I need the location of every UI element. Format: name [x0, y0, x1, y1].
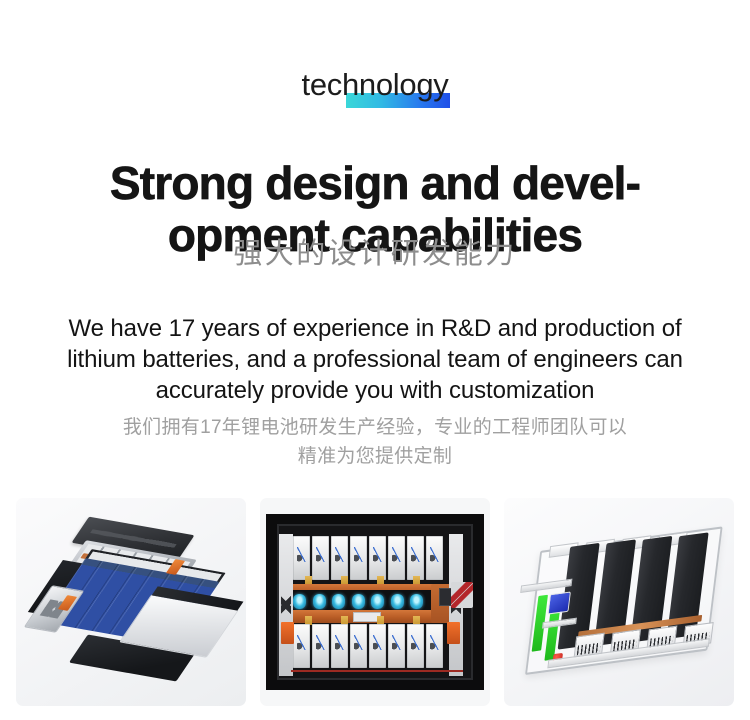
module-cell — [350, 624, 367, 668]
body-en-line-3: accurately provide you with customizatio… — [28, 375, 722, 406]
status-led — [352, 594, 365, 609]
module-terminal-left — [281, 622, 294, 644]
product-image-gallery — [16, 498, 734, 706]
body-en-line-1: We have 17 years of experience in R&D an… — [28, 313, 722, 344]
module-cell — [331, 624, 348, 668]
module-cell — [331, 536, 348, 580]
module-cell — [350, 536, 367, 580]
indicator-led-row — [293, 594, 423, 609]
status-led — [391, 594, 404, 609]
module-cell — [407, 624, 424, 668]
page-title-line-1: Strong design and devel- — [0, 157, 750, 209]
eyebrow-text: technology — [302, 67, 449, 102]
module-cell — [293, 536, 310, 580]
module-cell — [369, 536, 386, 580]
module-cell — [369, 624, 386, 668]
module-cell — [293, 624, 310, 668]
module-cell — [312, 624, 329, 668]
status-led — [293, 594, 306, 609]
module-board — [277, 524, 473, 680]
body-cn-line-2: 精准为您提供定制 — [40, 442, 710, 471]
body-en-line-2: lithium batteries, and a professional te… — [28, 344, 722, 375]
module-cell — [388, 624, 405, 668]
gallery-image-module-top-view[interactable] — [260, 498, 490, 706]
module-bracket-left — [279, 534, 293, 676]
module-cell — [407, 536, 424, 580]
module-photo-frame — [266, 514, 484, 690]
exploded-pack-illustration — [20, 504, 246, 706]
module-red-trim-line — [291, 670, 463, 672]
cad-render-illustration — [504, 498, 734, 706]
module-wire-harness — [451, 582, 473, 608]
gallery-image-rack-cabinet-render[interactable] — [504, 498, 734, 706]
module-cell — [312, 536, 329, 580]
marketing-banner-page: technology Strong design and devel- opme… — [0, 0, 750, 720]
status-led — [410, 594, 423, 609]
eyebrow-label: technology — [300, 68, 451, 102]
status-led — [332, 594, 345, 609]
eyebrow-container: technology — [0, 68, 750, 112]
status-led — [371, 594, 384, 609]
gallery-image-exploded-battery-pack[interactable] — [16, 498, 246, 706]
module-cell — [426, 624, 443, 668]
status-led — [313, 594, 326, 609]
body-cn-line-1: 我们拥有17年锂电池研发生产经验，专业的工程师团队可以 — [40, 413, 710, 442]
cell-band-top — [293, 536, 443, 580]
body-paragraph-chinese: 我们拥有17年锂电池研发生产经验，专业的工程师团队可以 精准为您提供定制 — [40, 413, 710, 471]
subtitle-chinese: 强大的设计研发能力 — [0, 236, 750, 272]
module-terminal-right — [447, 622, 460, 644]
bms-lcd-display — [548, 591, 571, 614]
cell-band-bottom — [293, 624, 443, 668]
module-cell — [426, 536, 443, 580]
module-cell — [388, 536, 405, 580]
body-paragraph-english: We have 17 years of experience in R&D an… — [28, 313, 722, 406]
